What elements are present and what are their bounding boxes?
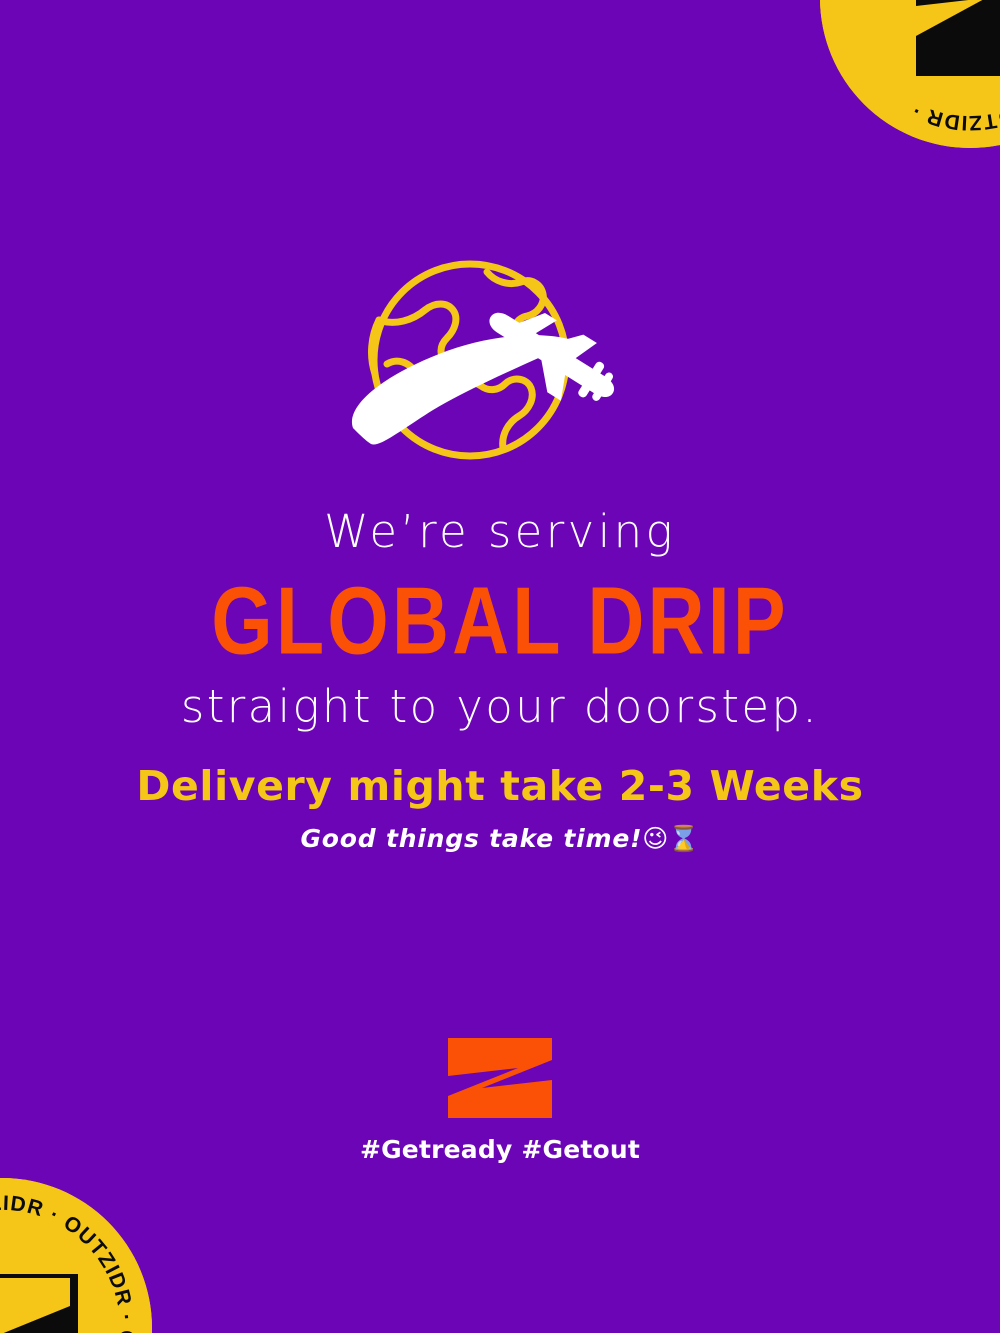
badge-bottom-left: OUTZIDR · OUTZIDR · OUTZIDR · OUTZIDR · …: [0, 1178, 152, 1333]
hashtags-text: #Getready #Getout: [0, 1135, 1000, 1164]
globe-airplane-graphic: [335, 258, 665, 473]
badge-bottom-left-graphic: OUTZIDR · OUTZIDR · OUTZIDR · OUTZIDR · …: [0, 1178, 152, 1333]
poster-canvas: OUTZIDR · OUTZIDR · OUTZIDR · OUTZIDR · …: [0, 0, 1000, 1333]
headline-block: We’re serving GLOBAL DRIP straight to yo…: [0, 508, 1000, 730]
badge-top-right: OUTZIDR · OUTZIDR · OUTZIDR · OUTZIDR · …: [820, 0, 1000, 148]
delivery-time-text: Delivery might take 2-3 Weeks: [0, 762, 1000, 810]
wink-hourglass-emoji: 😉⌛: [642, 824, 699, 853]
footer-block: #Getready #Getout: [0, 1036, 1000, 1164]
delivery-subtext: Good things take time!😉⌛: [0, 824, 1000, 854]
headline-line-2: GLOBAL DRIP: [0, 568, 1000, 675]
delivery-notice-block: Delivery might take 2-3 Weeks Good thing…: [0, 762, 1000, 854]
delivery-subtext-label: Good things take time!: [300, 824, 642, 853]
brand-z-logo-icon: [446, 1036, 554, 1120]
globe-airplane-icon: [335, 258, 665, 473]
headline-line-1: We’re serving: [0, 508, 1000, 556]
headline-line-3: straight to your doorstep.: [0, 683, 1000, 731]
badge-top-right-graphic: OUTZIDR · OUTZIDR · OUTZIDR · OUTZIDR · …: [820, 0, 1000, 148]
